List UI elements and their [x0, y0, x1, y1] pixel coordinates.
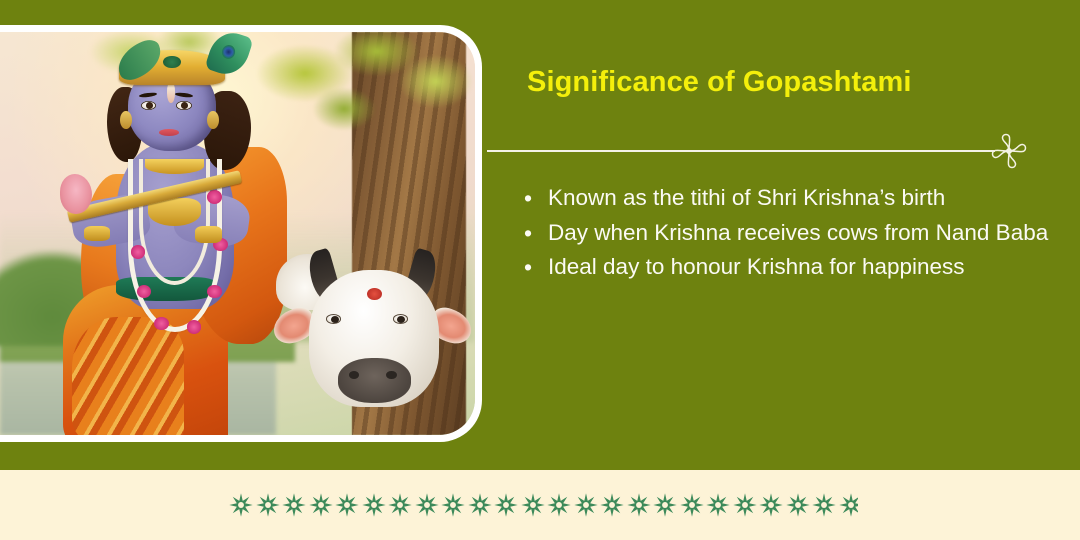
divider [487, 143, 1040, 159]
krishna-crown-gem [163, 56, 181, 69]
eight-petal-flower-icon [228, 492, 254, 518]
eight-petal-flower-icon [652, 492, 678, 518]
eight-petal-flower-icon [546, 492, 572, 518]
list-item-text: Known as the tithi of Shri Krishna’s bir… [548, 182, 1054, 214]
krishna-armlet-left [84, 226, 111, 242]
eight-petal-flower-icon [599, 492, 625, 518]
eight-petal-flower-icon [679, 492, 705, 518]
eight-petal-flower-icon [811, 492, 837, 518]
garland-flower [207, 190, 222, 203]
krishna-hand-left [60, 174, 92, 213]
list-item-text: Day when Krishna receives cows from Nand… [548, 217, 1054, 249]
list-item-text: Ideal day to honour Krishna for happines… [548, 251, 1054, 283]
eight-petal-flower-icon [732, 492, 758, 518]
eight-petal-flower-icon [308, 492, 334, 518]
cow-tilak [367, 288, 382, 300]
divider-line [487, 150, 995, 152]
flower-border-decoration [228, 490, 858, 520]
illustration-card [0, 25, 482, 442]
eight-petal-flower-icon [361, 492, 387, 518]
krishna-lips [159, 129, 180, 137]
eight-petal-flower-icon [758, 492, 784, 518]
krishna-armlet-right [195, 226, 222, 244]
eight-petal-flower-icon [493, 492, 519, 518]
list-item: • Known as the tithi of Shri Krishna’s b… [524, 182, 1054, 215]
bullet-marker-icon: • [524, 182, 548, 215]
slide-root: Significance of Gopashtami • Known as th… [0, 0, 1080, 540]
eight-petal-flower-icon [467, 492, 493, 518]
krishna-with-cow-illustration [0, 32, 475, 435]
garland-flower [187, 320, 202, 333]
garland-flower [154, 317, 169, 330]
eight-petal-flower-icon [838, 492, 859, 518]
page-title: Significance of Gopashtami [527, 66, 912, 99]
krishna-dhoti-pleats [72, 317, 184, 436]
bullet-list: • Known as the tithi of Shri Krishna’s b… [524, 182, 1054, 286]
eight-petal-flower-icon [573, 492, 599, 518]
garland-flower [131, 245, 146, 258]
bullet-marker-icon: • [524, 251, 548, 284]
krishna-pupil-left [146, 102, 153, 109]
cow-muzzle [338, 358, 411, 402]
eight-petal-flower-icon [281, 492, 307, 518]
cow-nostril-left [349, 371, 359, 379]
cow-figure [276, 234, 476, 436]
bullet-marker-icon: • [524, 217, 548, 250]
eight-petal-flower-icon [387, 492, 413, 518]
cow-nostril-right [386, 371, 396, 379]
eight-petal-flower-icon [440, 492, 466, 518]
eight-petal-flower-icon [626, 492, 652, 518]
eight-petal-flower-icon [785, 492, 811, 518]
eight-petal-flower-icon [255, 492, 281, 518]
eight-petal-flower-icon [705, 492, 731, 518]
eight-petal-flower-icon [520, 492, 546, 518]
list-item: • Ideal day to honour Krishna for happin… [524, 251, 1054, 284]
four-lobed-knot-ornament [987, 129, 1031, 173]
eight-petal-flower-icon [334, 492, 360, 518]
list-item: • Day when Krishna receives cows from Na… [524, 217, 1054, 250]
eight-petal-flower-icon [414, 492, 440, 518]
